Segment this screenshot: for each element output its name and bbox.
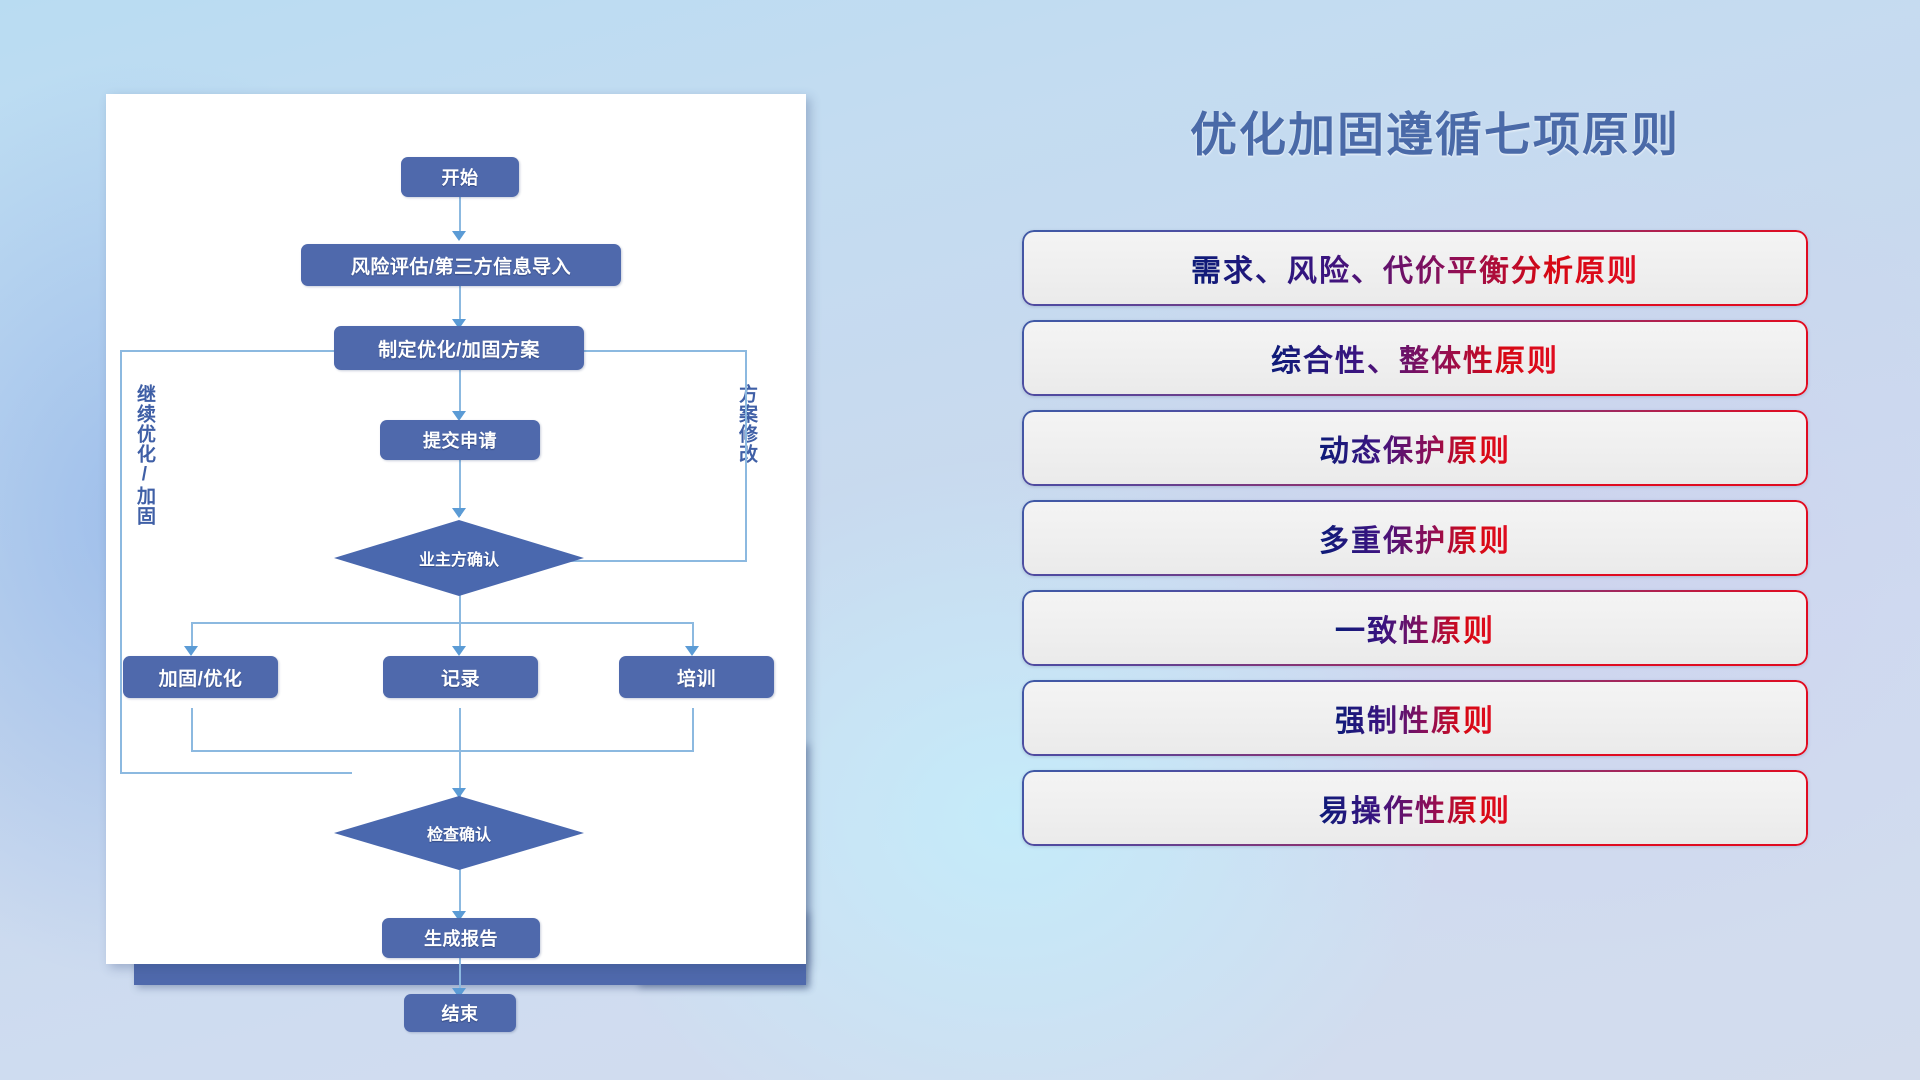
principle-label-7: 易操作性原则 [1319,786,1511,830]
branch-bus-top [191,622,694,624]
arrowhead-to-record [452,646,466,656]
principle-label-1: 需求、风险、代价平衡分析原则 [1191,246,1639,290]
flow-node-training[interactable]: 培训 [619,656,774,698]
principles-title: 优化加固遵循七项原则 [1020,96,1850,165]
flow-node-record[interactable]: 记录 [383,656,538,698]
principle-card-6[interactable]: 强制性原则 [1022,680,1808,756]
merge-left-down [191,708,193,752]
flow-node-owner-confirm[interactable]: 业主方确认 [334,520,584,596]
slide-canvas: 继续优化/加固 方案修改 [0,0,1920,1080]
arrowhead-to-train [685,646,699,656]
principle-label-3: 动态保护原则 [1319,426,1511,470]
flow-node-risk-assessment[interactable]: 风险评估/第三方信息导入 [301,244,621,286]
principles-panel: 优化加固遵循七项原则 需求、风险、代价平衡分析原则 综合性、整体性原则 动态保护… [1020,96,1850,1026]
loop-right-vertical [745,350,747,562]
flow-node-check-confirm[interactable]: 检查确认 [334,796,584,870]
principle-card-3[interactable]: 动态保护原则 [1022,410,1808,486]
principle-label-5: 一致性原则 [1335,606,1495,650]
flow-node-harden-optimize[interactable]: 加固/优化 [123,656,278,698]
principle-card-7[interactable]: 易操作性原则 [1022,770,1808,846]
loop-left-bottom [120,772,352,774]
connector-plan-to-submit [459,369,461,417]
principle-card-1[interactable]: 需求、风险、代价平衡分析原则 [1022,230,1808,306]
principle-label-4: 多重保护原则 [1319,516,1511,560]
merge-bus [191,750,694,752]
arrowhead-to-harden [184,646,198,656]
merge-mid-down [459,708,461,798]
principle-card-5[interactable]: 一致性原则 [1022,590,1808,666]
flow-node-end[interactable]: 结束 [404,994,516,1032]
merge-right-down [692,708,694,752]
principles-list: 需求、风险、代价平衡分析原则 综合性、整体性原则 动态保护原则 多重保护原则 一… [1022,230,1808,860]
edge-label-continue-optimize: 继续优化/加固 [134,384,154,526]
principle-label-6: 强制性原则 [1335,696,1495,740]
principle-label-2: 综合性、整体性原则 [1271,336,1559,380]
flow-node-submit-application[interactable]: 提交申请 [380,420,540,460]
connector-owner-down [459,594,461,624]
loop-left-top [120,350,342,352]
flow-node-make-plan[interactable]: 制定优化/加固方案 [334,326,584,370]
flowchart-diagram: 继续优化/加固 方案修改 [106,94,806,964]
arrowhead-submit-to-owner [452,508,466,518]
arrowhead-start-to-risk [452,231,466,241]
flow-node-generate-report[interactable]: 生成报告 [382,918,540,958]
principle-card-2[interactable]: 综合性、整体性原则 [1022,320,1808,396]
principle-card-4[interactable]: 多重保护原则 [1022,500,1808,576]
flow-node-start[interactable]: 开始 [401,157,519,197]
flowchart-card: 继续优化/加固 方案修改 [106,94,806,964]
loop-left-vertical [120,350,122,774]
